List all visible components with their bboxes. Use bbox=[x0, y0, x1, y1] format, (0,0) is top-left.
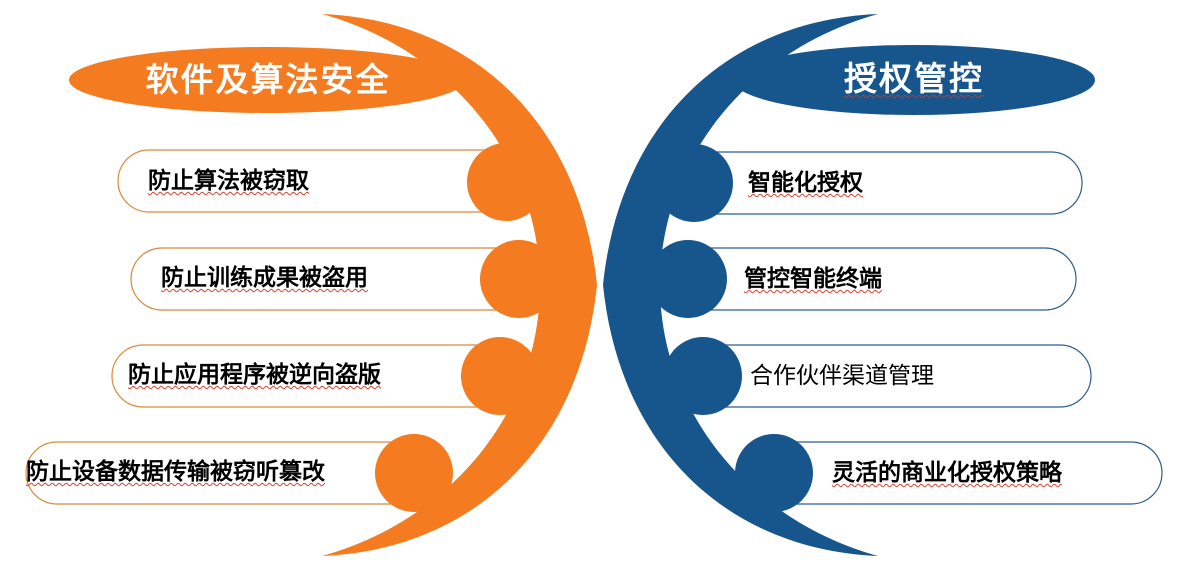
right-item-4-label: 灵活的商业化授权策略 bbox=[832, 461, 1062, 484]
left-item-1-label: 防止算法被窃取 bbox=[148, 169, 309, 192]
left-item-3-label: 防止应用程序被逆向盗版 bbox=[128, 363, 381, 386]
left-item-3-bullet[interactable] bbox=[461, 337, 539, 415]
right-item-1-pill[interactable] bbox=[682, 152, 1082, 214]
left-item-4-label: 防止设备数据传输被窃听篡改 bbox=[26, 460, 325, 483]
right-item-4-bullet[interactable] bbox=[735, 434, 813, 512]
left-branch-title: 软件及算法安全 bbox=[70, 63, 466, 96]
right-item-1-bullet[interactable] bbox=[655, 144, 733, 222]
left-item-2-label: 防止训练成果被盗用 bbox=[161, 266, 368, 289]
right-item-3-label: 合作伙伴渠道管理 bbox=[750, 364, 934, 387]
right-branch-title: 授权管控 bbox=[733, 62, 1095, 95]
diagram-canvas: 软件及算法安全 防止算法被窃取 防止训练成果被盗用 防止应用程序被逆向盗版 防止… bbox=[0, 0, 1188, 571]
left-item-4-bullet[interactable] bbox=[375, 434, 453, 512]
left-item-2-bullet[interactable] bbox=[480, 240, 558, 318]
right-item-2-label: 管控智能终端 bbox=[744, 267, 882, 290]
right-item-1-label: 智能化授权 bbox=[748, 171, 863, 194]
left-item-1-bullet[interactable] bbox=[467, 143, 545, 221]
right-item-3-bullet[interactable] bbox=[664, 337, 742, 415]
right-item-2-bullet[interactable] bbox=[649, 240, 727, 318]
